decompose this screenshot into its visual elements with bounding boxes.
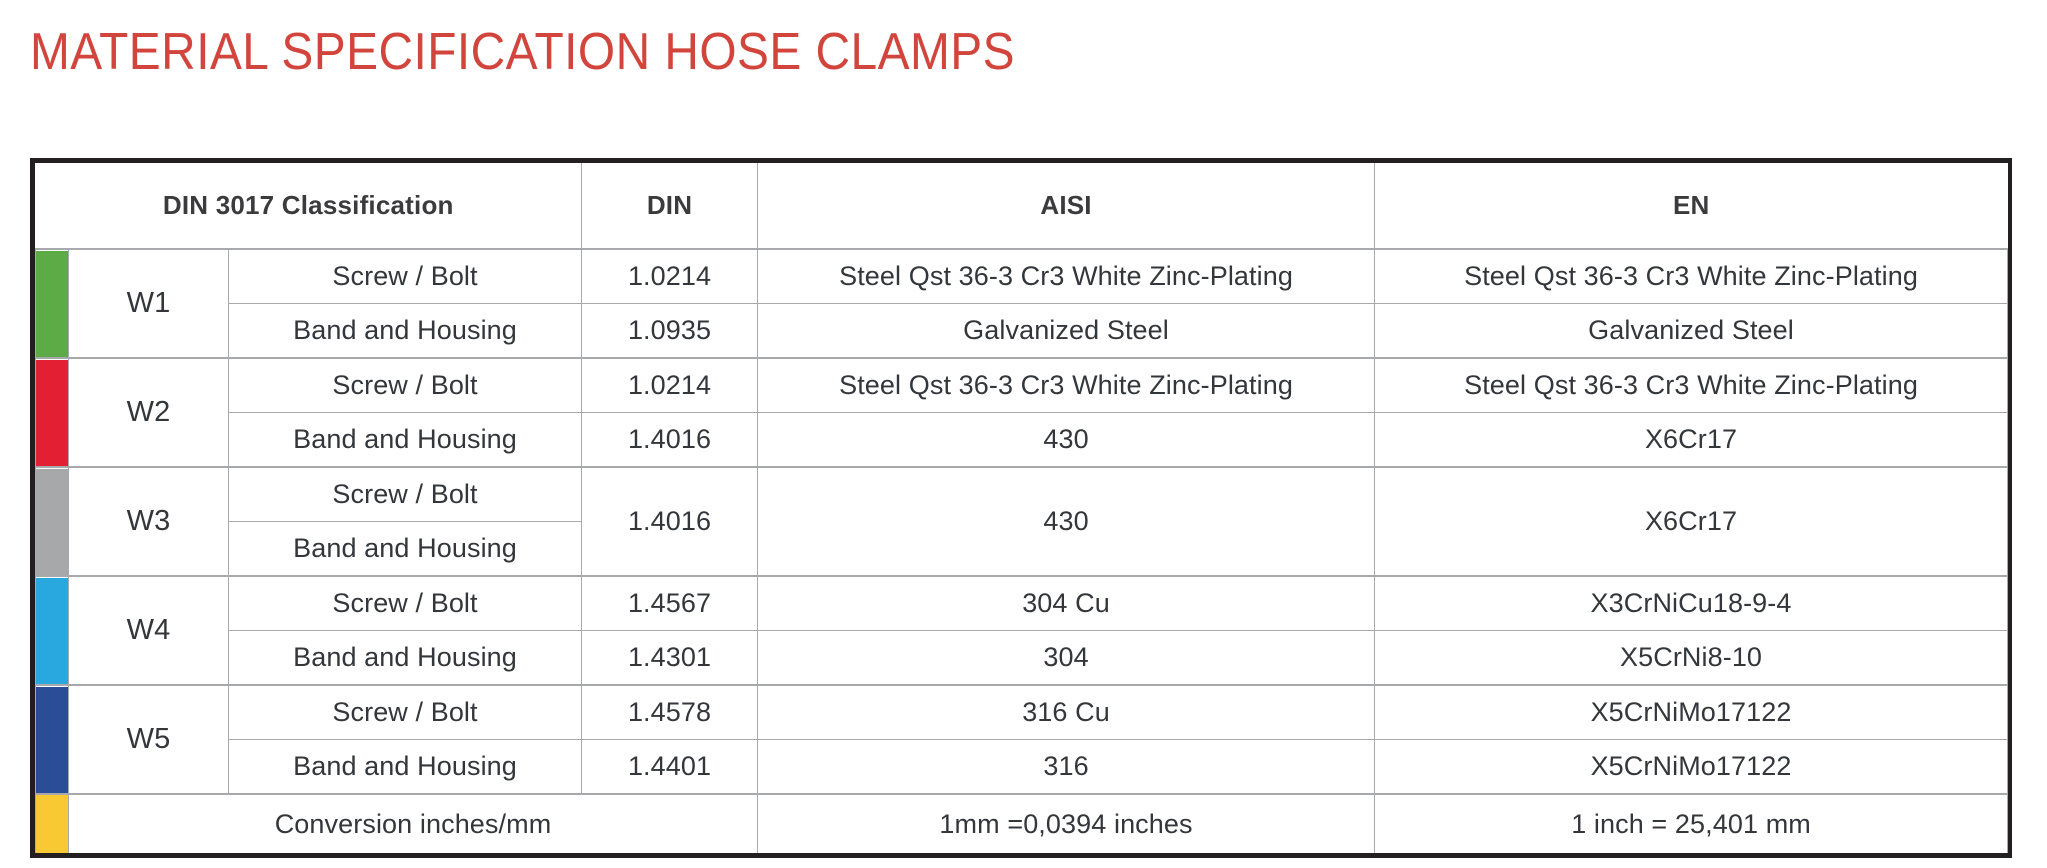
page-title: MATERIAL SPECIFICATION HOSE CLAMPS [30, 22, 1015, 82]
conversion-inch-to-mm: 1 inch = 25,401 mm [1375, 794, 2008, 853]
din-value: 1.0935 [582, 304, 758, 359]
part-label: Screw / Bolt [229, 685, 582, 740]
en-value: X3CrNiCu18-9-4 [1375, 576, 2008, 631]
part-label: Band and Housing [229, 631, 582, 686]
color-swatch-w1 [36, 249, 69, 358]
swatch-fill [36, 251, 68, 357]
swatch-fill [36, 578, 68, 684]
en-value: X6Cr17 [1375, 467, 2008, 576]
classification-code-w4: W4 [69, 576, 229, 685]
en-value: Galvanized Steel [1375, 304, 2008, 359]
part-label: Band and Housing [229, 522, 582, 577]
classification-code-w1: W1 [69, 249, 229, 358]
part-label: Band and Housing [229, 740, 582, 795]
table-row: Band and Housing1.0935Galvanized SteelGa… [36, 304, 2008, 359]
color-swatch-w4 [36, 576, 69, 685]
din-value: 1.0214 [582, 358, 758, 413]
en-value: Steel Qst 36-3 Cr3 White Zinc-Plating [1375, 358, 2008, 413]
din-value: 1.4016 [582, 413, 758, 468]
en-value: X5CrNiMo17122 [1375, 740, 2008, 795]
conversion-row: Conversion inches/mm1mm =0,0394 inches1 … [36, 794, 2008, 853]
color-swatch-conversion [36, 794, 69, 853]
aisi-value: 304 Cu [758, 576, 1375, 631]
column-header-en: EN [1375, 163, 2008, 249]
part-label: Band and Housing [229, 304, 582, 359]
part-label: Band and Housing [229, 413, 582, 468]
table-body: W1Screw / Bolt1.0214Steel Qst 36-3 Cr3 W… [36, 249, 2008, 853]
color-swatch-w3 [36, 467, 69, 576]
conversion-mm-to-inches: 1mm =0,0394 inches [758, 794, 1375, 853]
en-value: X5CrNi8-10 [1375, 631, 2008, 686]
aisi-value: 430 [758, 413, 1375, 468]
din-value: 1.0214 [582, 249, 758, 304]
classification-code-w2: W2 [69, 358, 229, 467]
aisi-value: Steel Qst 36-3 Cr3 White Zinc-Plating [758, 358, 1375, 413]
page-root: MATERIAL SPECIFICATION HOSE CLAMPS DIN 3… [0, 0, 2047, 868]
din-value: 1.4301 [582, 631, 758, 686]
swatch-fill [36, 687, 68, 793]
part-label: Screw / Bolt [229, 358, 582, 413]
din-value: 1.4016 [582, 467, 758, 576]
en-value: Steel Qst 36-3 Cr3 White Zinc-Plating [1375, 249, 2008, 304]
classification-code-w5: W5 [69, 685, 229, 794]
swatch-fill [36, 795, 68, 853]
en-value: X5CrNiMo17122 [1375, 685, 2008, 740]
table-head: DIN 3017 Classification DIN AISI EN [36, 163, 2008, 249]
swatch-fill [36, 360, 68, 466]
table-row: W1Screw / Bolt1.0214Steel Qst 36-3 Cr3 W… [36, 249, 2008, 304]
aisi-value: 304 [758, 631, 1375, 686]
table-row: W5Screw / Bolt1.4578316 CuX5CrNiMo17122 [36, 685, 2008, 740]
aisi-value: 316 [758, 740, 1375, 795]
part-label: Screw / Bolt [229, 467, 582, 522]
aisi-value: 430 [758, 467, 1375, 576]
aisi-value: 316 Cu [758, 685, 1375, 740]
table-row: Band and Housing1.4401316X5CrNiMo17122 [36, 740, 2008, 795]
table-row: W4Screw / Bolt1.4567304 CuX3CrNiCu18-9-4 [36, 576, 2008, 631]
din-value: 1.4567 [582, 576, 758, 631]
table-row: Band and Housing1.4301304X5CrNi8-10 [36, 631, 2008, 686]
classification-code-w3: W3 [69, 467, 229, 576]
spec-table-container: DIN 3017 Classification DIN AISI EN W1Sc… [30, 158, 2012, 858]
color-swatch-w2 [36, 358, 69, 467]
din-value: 1.4578 [582, 685, 758, 740]
conversion-label: Conversion inches/mm [69, 794, 758, 853]
column-header-classification: DIN 3017 Classification [36, 163, 582, 249]
table-header-row: DIN 3017 Classification DIN AISI EN [36, 163, 2008, 249]
table-row: W3Screw / Bolt1.4016430X6Cr17 [36, 467, 2008, 522]
din-value: 1.4401 [582, 740, 758, 795]
column-header-din: DIN [582, 163, 758, 249]
en-value: X6Cr17 [1375, 413, 2008, 468]
aisi-value: Steel Qst 36-3 Cr3 White Zinc-Plating [758, 249, 1375, 304]
part-label: Screw / Bolt [229, 576, 582, 631]
part-label: Screw / Bolt [229, 249, 582, 304]
column-header-aisi: AISI [758, 163, 1375, 249]
swatch-fill [36, 469, 68, 575]
table-row: W2Screw / Bolt1.0214Steel Qst 36-3 Cr3 W… [36, 358, 2008, 413]
table-row: Band and Housing1.4016430X6Cr17 [36, 413, 2008, 468]
aisi-value: Galvanized Steel [758, 304, 1375, 359]
color-swatch-w5 [36, 685, 69, 794]
material-specification-table: DIN 3017 Classification DIN AISI EN W1Sc… [35, 163, 2008, 853]
